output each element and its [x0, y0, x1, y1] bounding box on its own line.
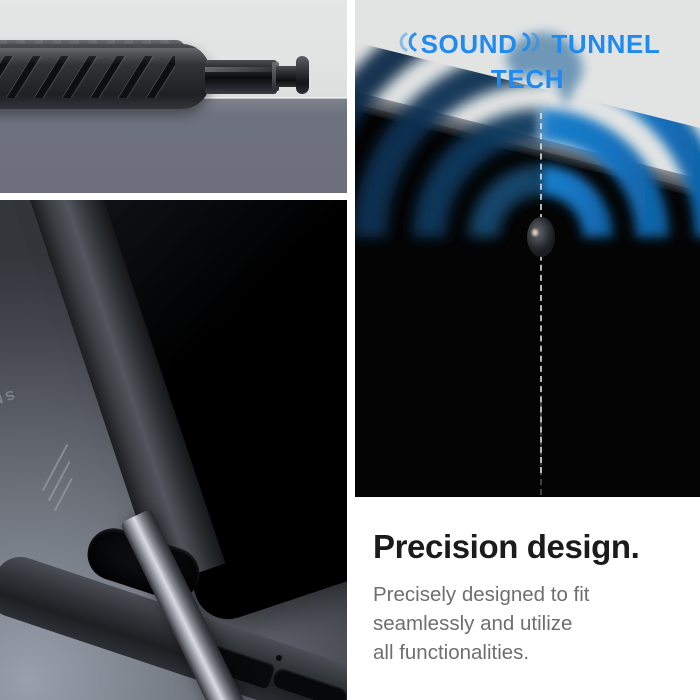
case-highlight-sheen	[0, 48, 210, 64]
sound-wave-left-icon	[395, 30, 421, 54]
sound-tunnel-header: SOUND TUNNEL TECH	[355, 27, 700, 97]
brand-slash-2	[48, 461, 70, 501]
backdrop-slate-desk	[0, 98, 347, 193]
copy-body: Precisely designed to fit seamlessly and…	[373, 580, 693, 667]
sound-wave-right-icon	[518, 30, 544, 54]
marketing-image-canvas: spigen	[0, 0, 700, 700]
header-word-sound: SOUND	[421, 29, 518, 59]
centerline-dashed-fade	[540, 400, 542, 495]
header-word-tunnel: TUNNEL	[551, 29, 660, 59]
brand-logo-text: spigen	[0, 385, 18, 428]
gutter-vertical	[347, 0, 355, 700]
gutter-horizontal-right	[355, 497, 700, 507]
speaker-port	[527, 217, 555, 257]
copy-body-line-1: Precisely designed to fit	[373, 580, 693, 609]
spen-shaft	[205, 60, 277, 94]
gutter-horizontal-left	[0, 193, 347, 200]
panel-sound-tunnel-diagram: SOUND TUNNEL TECH	[355, 0, 700, 497]
copy-body-line-2: seamlessly and utilize	[373, 609, 693, 638]
panel-case-grip-spen	[0, 0, 347, 193]
microphone-hole	[276, 655, 282, 661]
header-line-2: TECH	[355, 62, 700, 97]
header-line-1: SOUND TUNNEL	[355, 27, 700, 62]
panel-precision-copy: Precision design. Precisely designed to …	[373, 528, 693, 667]
panel-spen-removal: spigen	[0, 200, 347, 700]
spen-cap	[296, 56, 309, 94]
copy-heading: Precision design.	[373, 528, 693, 567]
spen-neck	[276, 66, 298, 87]
copy-body-line-3: all functionalities.	[373, 638, 693, 667]
